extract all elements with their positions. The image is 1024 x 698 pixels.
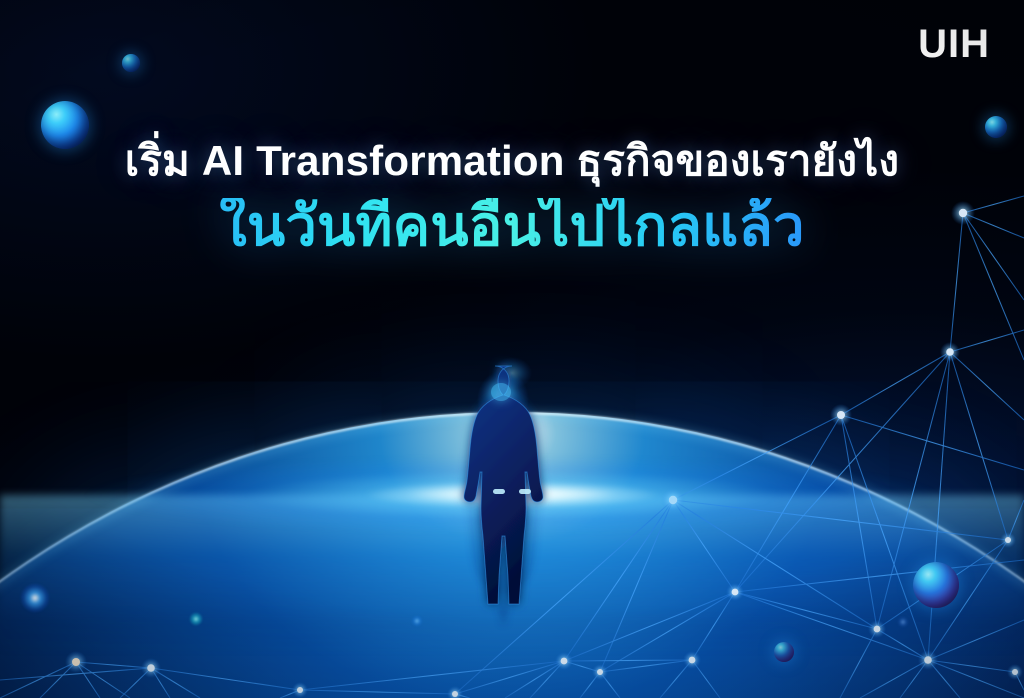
glow-left-small [190,613,202,625]
uih-logo: UIH [918,24,990,64]
figure-shoulder-highlight [491,383,511,401]
glow-right-dot [412,616,422,626]
businessman-silhouette [0,0,1024,698]
orb-small-bottom-mid [774,642,794,662]
headline-line-1: เริ่ม AI Transformation ธุรกิจของเรายังไ… [0,140,1024,182]
orb-large-bottom-right [913,562,959,608]
orb-small-top-left [122,54,140,72]
orb-top-right [985,116,1007,138]
glow-left-mid [21,584,49,612]
headline-line-2: ในวันที่คนอื่นไปไกลแล้ว [0,198,1024,254]
figure-shoe-left [493,489,505,494]
poster-canvas: เริ่ม AI Transformation ธุรกิจของเรายังไ… [0,0,1024,698]
glow-upper-right [898,617,908,627]
headline-block: เริ่ม AI Transformation ธุรกิจของเรายังไ… [0,140,1024,254]
figure-shoe-right [519,489,531,494]
